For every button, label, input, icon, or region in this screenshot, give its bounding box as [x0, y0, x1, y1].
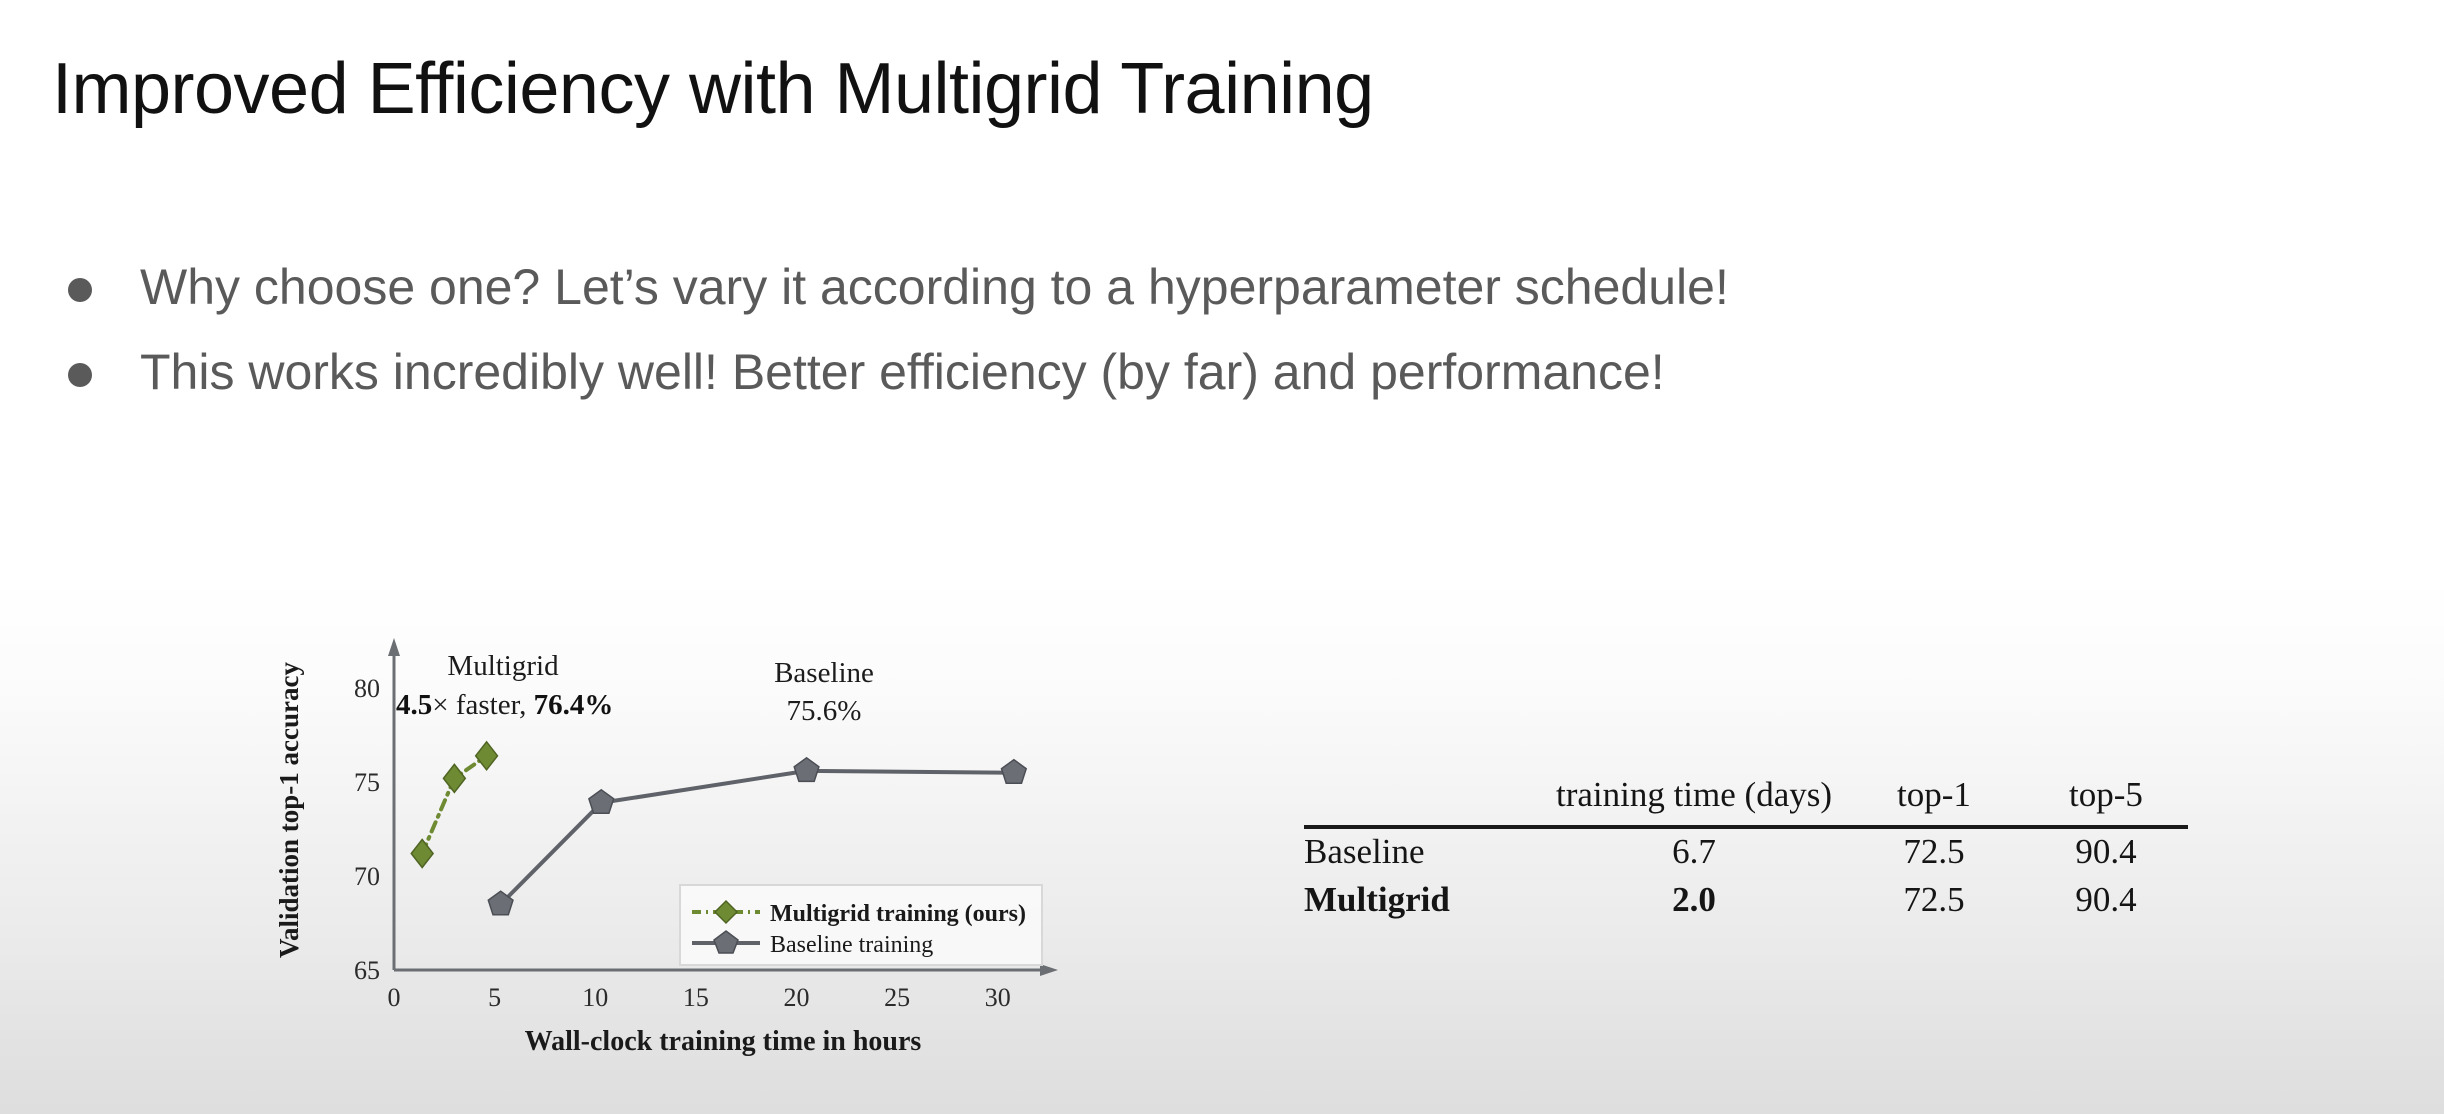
table-row: Multigrid 2.0 72.5 90.4	[1304, 877, 2188, 925]
results-table: training time (days) top-1 top-5 Baselin…	[1304, 772, 2188, 925]
y-tick-label: 65	[354, 956, 380, 985]
bullet-dot-icon	[68, 363, 92, 387]
col-header-training-time: training time (days)	[1544, 772, 1844, 827]
page-title: Improved Efficiency with Multigrid Train…	[52, 52, 1374, 128]
bullet-list: Why choose one? Let’s vary it according …	[68, 258, 2368, 428]
svg-text:Baseline: Baseline	[774, 657, 874, 689]
x-tick-label: 25	[884, 983, 910, 1012]
list-item: Why choose one? Let’s vary it according …	[68, 258, 2368, 317]
chart-svg: 65707580 051015202530 Validation top-1 a…	[268, 620, 1088, 1090]
data-point	[411, 840, 433, 868]
svg-text:4.5× faster, 76.4%: 4.5× faster, 76.4%	[396, 689, 613, 721]
data-point	[589, 790, 614, 814]
legend-label: Multigrid training (ours)	[770, 901, 1026, 927]
slide-canvas: Improved Efficiency with Multigrid Train…	[0, 0, 2444, 1114]
col-header-top5: top-5	[2024, 772, 2188, 827]
y-tick-label: 80	[354, 674, 380, 703]
x-axis-label: Wall-clock training time in hours	[525, 1026, 922, 1057]
bullet-text: Why choose one? Let’s vary it according …	[140, 258, 1729, 317]
data-point	[443, 764, 465, 792]
list-item: This works incredibly well! Better effic…	[68, 343, 2368, 402]
cell-baseline-top1: 72.5	[1844, 827, 2024, 877]
svg-text:75.6%: 75.6%	[787, 695, 862, 727]
x-tick-label: 15	[683, 983, 709, 1012]
y-tick-label: 75	[354, 768, 380, 797]
col-header-top1: top-1	[1844, 772, 2024, 827]
chart-legend: Multigrid training (ours) Baseline train…	[680, 885, 1042, 965]
x-tick-label: 30	[985, 983, 1011, 1012]
data-point	[794, 758, 819, 782]
legend-label: Baseline training	[770, 932, 933, 958]
cell-baseline-time: 6.7	[1544, 827, 1844, 877]
row-label-multigrid: Multigrid	[1304, 877, 1544, 925]
col-header-blank	[1304, 772, 1544, 827]
y-axis-label: Validation top-1 accuracy	[274, 662, 304, 958]
data-point	[476, 742, 498, 770]
x-tick-label: 5	[488, 983, 501, 1012]
multigrid-annotation: Multigrid 4.5× faster, 76.4%	[396, 650, 613, 721]
bullet-dot-icon	[68, 278, 92, 302]
cell-multigrid-top5: 90.4	[2024, 877, 2188, 925]
bullet-text: This works incredibly well! Better effic…	[140, 343, 1665, 402]
svg-text:Multigrid: Multigrid	[447, 650, 559, 682]
table-row: Baseline 6.7 72.5 90.4	[1304, 827, 2188, 877]
cell-baseline-top5: 90.4	[2024, 827, 2188, 877]
cell-multigrid-time: 2.0	[1544, 877, 1844, 925]
y-tick-label: 70	[354, 862, 380, 891]
row-label-baseline: Baseline	[1304, 827, 1544, 877]
x-tick-label: 20	[784, 983, 810, 1012]
cell-multigrid-top1: 72.5	[1844, 877, 2024, 925]
x-tick-label: 0	[388, 983, 401, 1012]
x-tick-label: 10	[582, 983, 608, 1012]
x-axis-ticks: 051015202530	[388, 983, 1011, 1012]
baseline-annotation: Baseline 75.6%	[774, 657, 874, 727]
data-point	[1002, 760, 1027, 784]
y-axis-ticks: 65707580	[354, 674, 380, 985]
table-header-row: training time (days) top-1 top-5	[1304, 772, 2188, 827]
efficiency-chart: 65707580 051015202530 Validation top-1 a…	[268, 620, 1088, 1090]
